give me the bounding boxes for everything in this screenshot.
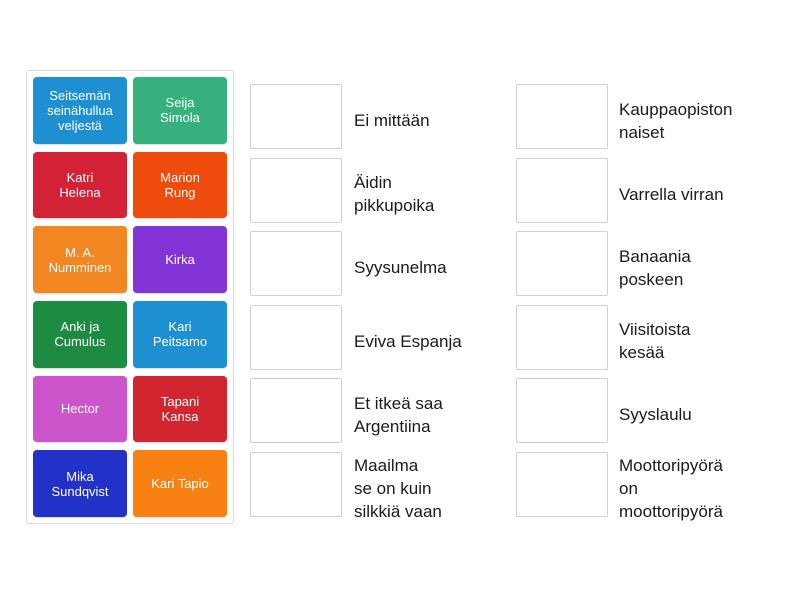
answer-label: Et itkeä saa Argentiina <box>354 392 443 438</box>
drop-zone[interactable] <box>516 452 608 517</box>
answer-row: Moottoripyörä on moottoripyörä <box>516 452 796 526</box>
answer-column-right: Kauppaopiston naiset Varrella virran Ban… <box>516 84 796 525</box>
answer-row: Et itkeä saa Argentiina <box>250 378 500 452</box>
draggable-tile[interactable]: M. A. Numminen <box>33 226 127 293</box>
answer-label: Syyslaulu <box>619 403 692 426</box>
draggable-tile[interactable]: Tapani Kansa <box>133 376 227 443</box>
drop-zone[interactable] <box>250 305 342 370</box>
draggable-tile[interactable]: Seija Simola <box>133 77 227 144</box>
tile-tray: Seitsemän seinähullua veljestä Seija Sim… <box>26 70 234 524</box>
drop-zone[interactable] <box>250 84 342 149</box>
drop-zone[interactable] <box>250 378 342 443</box>
answer-label: Ei mittään <box>354 109 430 132</box>
answer-label: Kauppaopiston naiset <box>619 98 732 144</box>
answer-label: Maailma se on kuin silkkiä vaan <box>354 454 442 523</box>
answer-row: Syyslaulu <box>516 378 796 452</box>
answer-row: Viisitoista kesää <box>516 305 796 379</box>
drop-zone[interactable] <box>516 378 608 443</box>
draggable-tile[interactable]: Kari Tapio <box>133 450 227 517</box>
answer-row: Ei mittään <box>250 84 500 158</box>
draggable-tile[interactable]: Katri Helena <box>33 152 127 219</box>
answer-label: Varrella virran <box>619 183 724 206</box>
answer-row: Äidin pikkupoika <box>250 158 500 232</box>
answer-row: Banaania poskeen <box>516 231 796 305</box>
answer-column-left: Ei mittään Äidin pikkupoika Syysunelma E… <box>250 84 500 525</box>
answer-row: Varrella virran <box>516 158 796 232</box>
answer-row: Syysunelma <box>250 231 500 305</box>
draggable-tile[interactable]: Hector <box>33 376 127 443</box>
draggable-tile[interactable]: Kari Peitsamo <box>133 301 227 368</box>
draggable-tile[interactable]: Seitsemän seinähullua veljestä <box>33 77 127 144</box>
answer-row: Eviva Espanja <box>250 305 500 379</box>
drop-zone[interactable] <box>250 231 342 296</box>
answer-label: Moottoripyörä on moottoripyörä <box>619 454 723 523</box>
answer-label: Viisitoista kesää <box>619 318 691 364</box>
drop-zone[interactable] <box>516 158 608 223</box>
drop-zone[interactable] <box>516 84 608 149</box>
drop-zone[interactable] <box>516 305 608 370</box>
drop-zone[interactable] <box>250 452 342 517</box>
answer-row: Maailma se on kuin silkkiä vaan <box>250 452 500 526</box>
drop-zone[interactable] <box>516 231 608 296</box>
answer-label: Banaania poskeen <box>619 245 691 291</box>
draggable-tile[interactable]: Anki ja Cumulus <box>33 301 127 368</box>
draggable-tile[interactable]: Mika Sundqvist <box>33 450 127 517</box>
draggable-tile[interactable]: Kirka <box>133 226 227 293</box>
drop-zone[interactable] <box>250 158 342 223</box>
answer-label: Äidin pikkupoika <box>354 171 434 217</box>
draggable-tile[interactable]: Marion Rung <box>133 152 227 219</box>
answer-label: Eviva Espanja <box>354 330 462 353</box>
answer-label: Syysunelma <box>354 256 447 279</box>
answer-row: Kauppaopiston naiset <box>516 84 796 158</box>
